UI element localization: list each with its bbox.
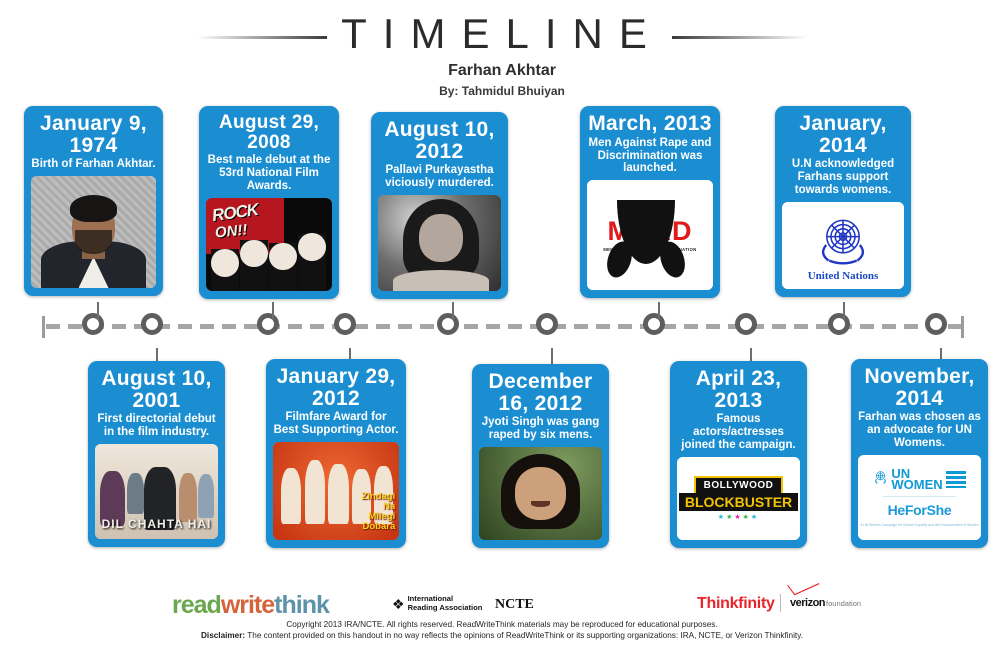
bird-icon: ❖ [392,597,405,611]
event-date: January, 2014 [782,113,904,156]
event-description: Famous actors/actresses joined the campa… [677,413,800,452]
disclaimer-label: Disclaimer: [201,631,245,640]
event-card-1974[interactable]: January 9, 1974 Birth of Farhan Akhtar. [24,106,163,296]
stars-decoration: ★★★★★ [718,513,759,521]
thinkfinity-logo: Thinkfinity [697,595,775,613]
blockbuster-wordmark: BLOCKBUSTER [679,493,798,511]
axis-dashed-line [46,324,961,329]
logo-think: think [274,591,329,619]
event-card-jan-2014[interactable]: January, 2014 U.N acknowledged Farhans s… [775,106,911,297]
event-date: August 10, 2012 [378,119,501,162]
timeline-node-7[interactable] [643,313,665,335]
heforshe-wordmark: HeForShe [888,502,952,518]
page-footer: readwritethink ❖ International Reading A… [0,575,1004,649]
event-image-pallavi-purkayastha-photo [378,195,501,291]
timeline-node-9[interactable] [828,313,850,335]
event-image-dil-chahta-hai-movie-poster: DIL CHAHTA HAI [95,444,218,539]
event-date: March, 2013 [588,113,712,135]
ira-line1: International [408,594,454,603]
poster-title: DIL CHAHTA HAI [95,517,218,531]
event-description: Jyoti Singh was gang raped by six mens. [479,416,602,442]
event-description: Birth of Farhan Akhtar. [31,158,155,171]
event-card-2001[interactable]: August 10, 2001 First directorial debut … [88,361,225,547]
un-emblem-icon [812,209,874,269]
event-image-jyoti-singh-photo [479,447,602,540]
ira-line2: Reading Association [408,603,483,612]
event-date: April 23, 2013 [677,368,800,411]
disclaimer-body: The content provided on this handout in … [247,631,803,640]
verizon-foundation-logo: verizon foundation [790,597,861,609]
timeline-node-4[interactable] [334,313,356,335]
event-description: Men Against Rape and Discrimination was … [587,137,713,176]
timeline-node-10[interactable] [925,313,947,335]
event-image-rock-on-movie-poster: ROCK ON!! [206,198,332,291]
event-date: January 9, 1974 [31,113,156,156]
timeline-node-2[interactable] [141,313,163,335]
heforshe-tagline: A UN Women Campaign for Gender Equality … [860,523,978,527]
subject-name: Farhan Akhtar [0,62,1004,80]
event-description: Pallavi Purkayastha viciously murdered. [378,164,501,190]
un-caption: United Nations [808,270,879,282]
event-image-zindagi-na-milegi-dobara-movie-poster: Zindagi Na Milegi Dobara [273,442,399,540]
event-date: January 29, 2012 [273,366,399,409]
verizon-check-icon [786,583,822,597]
event-description: Best male debut at the 53rd National Fil… [206,154,332,193]
un-women-grid-icon [946,471,966,488]
page-header: TIMELINE Farhan Akhtar By: Tahmidul Bhui… [0,0,1004,100]
poster-title-line4: Dobara [361,522,395,532]
event-image-bollywood-blockbuster-logo: BOLLYWOOD BLOCKBUSTER ★★★★★ [677,457,800,540]
event-description: First directorial debut in the film indu… [95,413,218,439]
timeline-node-1[interactable] [82,313,104,335]
event-date: August 29, 2008 [206,113,332,152]
mustache-icon [617,200,675,264]
event-date: August 10, 2001 [95,368,218,411]
international-reading-association-logo: ❖ International Reading Association [392,595,482,612]
event-card-dec-2012[interactable]: December 16, 2012 Jyoti Singh was gang r… [472,364,609,548]
timeline-node-6[interactable] [536,313,558,335]
page-title: TIMELINE [0,10,1004,58]
timeline-node-8[interactable] [735,313,757,335]
author-byline: By: Tahmidul Bhuiyan [0,84,1004,98]
event-description: Farhan was chosen as an advocate for UN … [858,411,981,450]
event-image-united-nations-emblem: United Nations [782,202,904,289]
logo-divider [883,496,957,497]
event-image-un-women-heforshe-logo: UN WOMEN HeForShe A UN Women Campaign fo… [858,455,981,540]
event-date: November, 2014 [858,366,981,409]
event-card-nov-2014[interactable]: November, 2014 Farhan was chosen as an a… [851,359,988,548]
ira-text: International Reading Association [408,595,483,612]
event-card-jan-2012[interactable]: January 29, 2012 Filmfare Award for Best… [266,359,406,548]
foundation-word: foundation [826,599,861,608]
disclaimer-text: Disclaimer: The content provided on this… [0,631,1004,640]
timeline-axis [0,308,1004,344]
readwritethink-logo[interactable]: readwritethink [172,591,329,620]
axis-end-cap [961,316,964,338]
verizon-wordmark: verizon [790,597,825,609]
event-card-aug-2012[interactable]: August 10, 2012 Pallavi Purkayastha vici… [371,112,508,299]
logo-write: write [221,591,274,619]
event-date: December 16, 2012 [479,371,602,414]
axis-start-cap [42,316,45,338]
event-image-mard-logo: MARD MEN AGAINST RAPE & DISCRIMINATION [587,180,713,290]
event-description: Filmfare Award for Best Supporting Actor… [273,411,399,437]
logo-read: read [172,591,221,619]
event-card-apr-2013[interactable]: April 23, 2013 Famous actors/actresses j… [670,361,807,548]
un-small-emblem-icon [873,469,888,489]
poster-title-line2: ON!! [214,221,248,241]
women-wordmark: WOMEN [891,479,942,491]
footer-divider [780,594,781,612]
timeline-node-3[interactable] [257,313,279,335]
event-card-mar-2013[interactable]: March, 2013 Men Against Rape and Discrim… [580,106,720,298]
event-image-farhan-akhtar-portrait-photo [31,176,156,288]
event-card-2008[interactable]: August 29, 2008 Best male debut at the 5… [199,106,339,299]
timeline-node-5[interactable] [437,313,459,335]
copyright-text: Copyright 2013 IRA/NCTE. All rights rese… [0,620,1004,629]
ncte-logo: NCTE [495,597,534,613]
event-description: U.N acknowledged Farhans support towards… [782,158,904,197]
